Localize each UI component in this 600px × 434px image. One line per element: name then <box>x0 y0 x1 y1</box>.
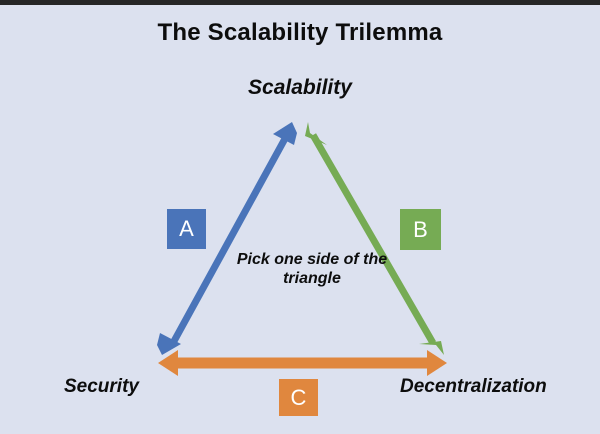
edge-c-arrow <box>158 350 447 376</box>
page-title: The Scalability Trilemma <box>0 19 600 47</box>
node-label-security: Security <box>64 376 139 398</box>
node-label-scalability: Scalability <box>0 76 600 101</box>
edge-badge-b: B <box>400 209 441 250</box>
edge-badge-a: A <box>167 209 206 249</box>
node-label-decentralization: Decentralization <box>400 376 547 398</box>
diagram-canvas: The Scalability Trilemma Scalability Sec… <box>0 0 600 434</box>
center-note: Pick one side of the triangle <box>232 251 392 289</box>
edge-badge-c: C <box>279 379 318 416</box>
trilemma-arrows <box>0 5 600 434</box>
